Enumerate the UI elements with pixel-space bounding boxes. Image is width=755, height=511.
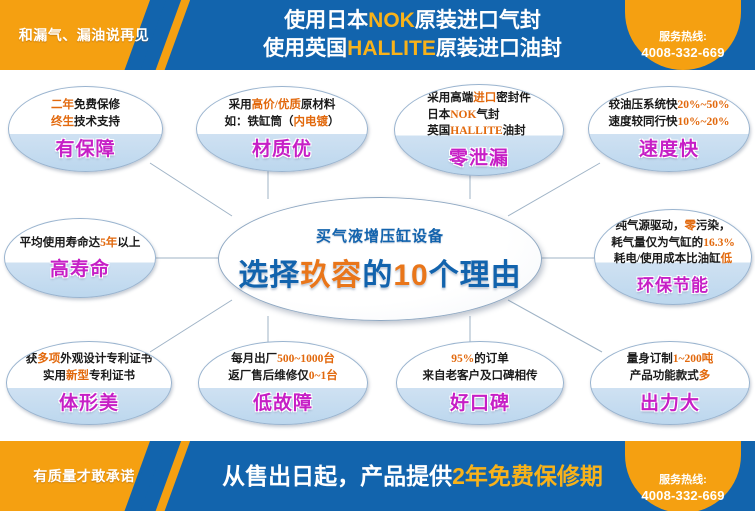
bubble-eco-saving-line: 耗气量仅为气缸的16.3% bbox=[611, 235, 735, 252]
bubble-eco-saving-body: 纯气源驱动，零污染，耗气量仅为气缸的16.3%耗电/使用成本比油缸低 bbox=[605, 218, 741, 268]
bubble-good-reputation[interactable]: 95%的订单来自老客户及口碑相传 好口碑 bbox=[396, 341, 564, 425]
bubble-high-output-line: 量身订制1~200吨 bbox=[627, 351, 713, 368]
bubble-high-output-text: 产品功能款式 bbox=[630, 370, 699, 382]
bubble-guarantee[interactable]: 二年免费保修终生技术支持 有保障 bbox=[8, 86, 163, 172]
bubble-zero-leak-text: 英国 bbox=[427, 125, 450, 137]
bubble-low-failure[interactable]: 每月出厂500~1000台返厂售后维修仅0~1台 低故障 bbox=[198, 341, 368, 425]
center-main-4: 10 bbox=[393, 259, 428, 292]
top-line2-pre: 使用英国 bbox=[263, 37, 347, 60]
bubble-beautiful-shape-line: 获多项外观设计专利证书 bbox=[26, 351, 153, 368]
center-main-3: 的 bbox=[362, 259, 393, 292]
bubble-good-reputation-text: 95% bbox=[451, 353, 474, 365]
connector-guarantee bbox=[150, 163, 232, 216]
bubble-beautiful-shape-text: 实用 bbox=[43, 370, 66, 382]
bubble-low-failure-text: 0~1台 bbox=[309, 370, 338, 382]
bubble-beautiful-shape-text: 专利证书 bbox=[89, 370, 135, 382]
bubble-good-reputation-body: 95%的订单来自老客户及口碑相传 bbox=[417, 351, 544, 384]
bubble-eco-saving-text: 耗气量仅为气缸的 bbox=[611, 237, 703, 249]
bottom-hotline-badge[interactable]: 服务热线: 4008-332-669 bbox=[625, 441, 741, 511]
bubble-eco-saving-text: 16.3% bbox=[703, 237, 735, 249]
top-line2-post: 原装进口油封 bbox=[436, 37, 562, 60]
bubble-good-reputation-text: 的订单 bbox=[474, 353, 509, 365]
connector-high-output bbox=[508, 300, 602, 352]
bubble-material-body: 采用高价/优质原材料如：铁缸筒（内电镀） bbox=[219, 97, 346, 130]
bubble-long-life-line: 平均使用寿命达5年以上 bbox=[20, 235, 141, 252]
bubble-good-reputation-line: 95%的订单 bbox=[423, 351, 538, 368]
bubble-long-life[interactable]: 平均使用寿命达5年以上 高寿命 bbox=[4, 218, 156, 298]
bubble-low-failure-title: 低故障 bbox=[253, 388, 313, 415]
bubble-good-reputation-line: 来自老客户及口碑相传 bbox=[423, 368, 538, 385]
bubble-fast-speed-line: 速度较同行快10%~20% bbox=[609, 114, 730, 131]
bubble-material-text: 采用 bbox=[229, 99, 252, 111]
top-hotline-label: 服务热线: bbox=[659, 30, 707, 45]
connector-beautiful-shape bbox=[150, 300, 232, 352]
bubble-zero-leak-line: 采用高端进口密封件 bbox=[427, 90, 531, 107]
top-banner-slogan: 和漏气、漏油说再见 bbox=[14, 0, 154, 70]
bottom-banner-line-1: 从售出日起，产品提供2年免费保修期 bbox=[222, 461, 603, 491]
bubble-low-failure-text: 每月出厂 bbox=[231, 353, 277, 365]
center-ellipse[interactable]: 买气液增压缸设备 选择玖容的10个理由 bbox=[218, 197, 542, 321]
bubble-high-output-title: 出力大 bbox=[640, 388, 700, 415]
top-line1-post: 原装进口气封 bbox=[415, 9, 541, 32]
center-main-title: 选择玖容的10个理由 bbox=[238, 250, 521, 294]
bubble-low-failure-line: 每月出厂500~1000台 bbox=[228, 351, 337, 368]
bubble-beautiful-shape-body: 获多项外观设计专利证书实用新型专利证书 bbox=[20, 351, 159, 384]
bubble-zero-leak-text: 日本 bbox=[427, 109, 450, 121]
bubble-beautiful-shape-title: 体形美 bbox=[59, 388, 119, 415]
bubble-zero-leak-title: 零泄漏 bbox=[449, 143, 509, 170]
bubble-beautiful-shape-text: 获 bbox=[26, 353, 38, 365]
bubble-high-output-body: 量身订制1~200吨产品功能款式多 bbox=[621, 351, 719, 384]
bubble-good-reputation-text: 来自老客户及口碑相传 bbox=[423, 370, 538, 382]
bubble-long-life-text: 以上 bbox=[117, 237, 140, 249]
bottom-banner: 有质量才敢承诺 从售出日起，产品提供2年免费保修期 服务热线: 4008-332… bbox=[0, 441, 755, 511]
bottom-banner-slogan: 有质量才敢承诺 bbox=[14, 441, 154, 511]
center-main-5: 个理由 bbox=[429, 259, 522, 292]
bubble-fast-speed[interactable]: 较油压系统快20%~50%速度较同行快10%~20% 速度快 bbox=[588, 86, 750, 172]
bubble-fast-speed-title: 速度快 bbox=[639, 134, 699, 161]
bubble-material-text: 原材料 bbox=[301, 99, 336, 111]
bubble-guarantee-text: 技术支持 bbox=[74, 116, 120, 128]
top-hotline-number: 4008-332-669 bbox=[641, 44, 724, 62]
bubble-fast-speed-text: 较油压系统快 bbox=[609, 99, 678, 111]
bottom-line-pre: 从售出日起，产品提供 bbox=[222, 463, 452, 489]
top-hotline-badge[interactable]: 服务热线: 4008-332-669 bbox=[625, 0, 741, 70]
bubble-material-line: 采用高价/优质原材料 bbox=[225, 97, 340, 114]
center-subtitle: 买气液增压缸设备 bbox=[316, 225, 444, 246]
bubble-fast-speed-text: 20%~50% bbox=[678, 99, 730, 111]
bubble-low-failure-body: 每月出厂500~1000台返厂售后维修仅0~1台 bbox=[222, 351, 343, 384]
bubble-guarantee-line: 二年免费保修 bbox=[51, 97, 120, 114]
bubble-guarantee-text: 终生 bbox=[51, 116, 74, 128]
top-banner-line-1: 使用日本NOK原装进口气封 bbox=[284, 7, 541, 35]
bubble-material-title: 材质优 bbox=[252, 134, 312, 161]
bottom-hotline-number: 4008-332-669 bbox=[641, 487, 724, 505]
bubble-beautiful-shape-line: 实用新型专利证书 bbox=[26, 368, 153, 385]
bubble-eco-saving-text: 污染， bbox=[696, 220, 731, 232]
bubble-guarantee-body: 二年免费保修终生技术支持 bbox=[45, 97, 126, 130]
bubble-zero-leak-line: 英国HALLITE油封 bbox=[427, 123, 531, 140]
bubble-high-output[interactable]: 量身订制1~200吨产品功能款式多 出力大 bbox=[590, 341, 750, 425]
bubble-guarantee-title: 有保障 bbox=[55, 134, 115, 161]
bubble-high-output-text: 量身订制 bbox=[627, 353, 673, 365]
bubble-high-output-text: 1~200吨 bbox=[673, 353, 713, 365]
bubble-good-reputation-title: 好口碑 bbox=[450, 388, 510, 415]
bubble-long-life-text: 5年 bbox=[100, 237, 117, 249]
bubble-zero-leak-body: 采用高端进口密封件日本NOK气封英国HALLITE油封 bbox=[421, 90, 537, 140]
center-main-1: 选择 bbox=[238, 259, 300, 292]
bubble-eco-saving-text: 零 bbox=[685, 220, 697, 232]
top-line2-brand: HALLITE bbox=[347, 37, 436, 60]
bubble-beautiful-shape[interactable]: 获多项外观设计专利证书实用新型专利证书 体形美 bbox=[6, 341, 172, 425]
bubble-beautiful-shape-text: 多项 bbox=[37, 353, 60, 365]
bubble-fast-speed-text: 速度较同行快 bbox=[609, 116, 678, 128]
bubble-fast-speed-line: 较油压系统快20%~50% bbox=[609, 97, 730, 114]
top-banner: 和漏气、漏油说再见 使用日本NOK原装进口气封 使用英国HALLITE原装进口油… bbox=[0, 0, 755, 70]
bubble-guarantee-text: 二年 bbox=[51, 99, 74, 111]
bubble-eco-saving-text: 低 bbox=[721, 253, 733, 265]
bubble-beautiful-shape-text: 新型 bbox=[66, 370, 89, 382]
bubble-zero-leak-text: 密封件 bbox=[496, 92, 531, 104]
bubble-zero-leak-text: 油封 bbox=[503, 125, 526, 137]
bubble-material-text: 内电镀 bbox=[294, 116, 329, 128]
bubble-long-life-title: 高寿命 bbox=[50, 254, 110, 281]
top-line1-brand: NOK bbox=[368, 9, 415, 32]
bubble-zero-leak-text: 采用高端 bbox=[427, 92, 473, 104]
bubble-high-output-text: 多 bbox=[699, 370, 711, 382]
top-line1-pre: 使用日本 bbox=[284, 9, 368, 32]
bubble-beautiful-shape-text: 外观设计专利证书 bbox=[60, 353, 152, 365]
bubble-fast-speed-body: 较油压系统快20%~50%速度较同行快10%~20% bbox=[603, 97, 736, 130]
bubble-long-life-text: 平均使用寿命达 bbox=[20, 237, 101, 249]
bottom-line-highlight: 2年免费保修期 bbox=[452, 463, 603, 489]
bubble-eco-saving-title: 环保节能 bbox=[637, 271, 709, 296]
bubble-eco-saving-line: 耗电/使用成本比油缸低 bbox=[611, 251, 735, 268]
bubble-material-text: 如：铁缸筒（ bbox=[225, 116, 294, 128]
bubble-eco-saving-text: 耗电/使用成本比油缸 bbox=[614, 253, 721, 265]
bubble-material[interactable]: 采用高价/优质原材料如：铁缸筒（内电镀） 材质优 bbox=[196, 86, 368, 172]
bubble-zero-leak-text: NOK bbox=[450, 109, 476, 121]
bubble-eco-saving[interactable]: 纯气源驱动，零污染，耗气量仅为气缸的16.3%耗电/使用成本比油缸低 环保节能 bbox=[594, 209, 752, 305]
top-banner-headline: 使用日本NOK原装进口气封 使用英国HALLITE原装进口油封 bbox=[185, 0, 640, 70]
bubble-zero-leak-line: 日本NOK气封 bbox=[427, 107, 531, 124]
bubble-guarantee-text: 免费保修 bbox=[74, 99, 120, 111]
bubble-eco-saving-text: 纯气源驱动， bbox=[616, 220, 685, 232]
bubble-low-failure-line: 返厂售后维修仅0~1台 bbox=[228, 368, 337, 385]
bubble-low-failure-text: 返厂售后维修仅 bbox=[228, 370, 309, 382]
infographic-root: 和漏气、漏油说再见 使用日本NOK原装进口气封 使用英国HALLITE原装进口油… bbox=[0, 0, 755, 511]
connector-fast-speed bbox=[508, 163, 600, 216]
bottom-hotline-label: 服务热线: bbox=[659, 473, 707, 488]
bubble-zero-leak-text: HALLITE bbox=[450, 125, 502, 137]
bubble-material-text: ） bbox=[328, 116, 340, 128]
bubble-zero-leak-text: 进口 bbox=[473, 92, 496, 104]
bottom-banner-headline: 从售出日起，产品提供2年免费保修期 bbox=[185, 441, 640, 511]
bubble-guarantee-line: 终生技术支持 bbox=[51, 114, 120, 131]
bubble-material-text: 高价/优质 bbox=[252, 99, 301, 111]
center-main-2: 玖容 bbox=[300, 259, 362, 292]
bubble-fast-speed-text: 10%~20% bbox=[678, 116, 730, 128]
bubble-zero-leak[interactable]: 采用高端进口密封件日本NOK气封英国HALLITE油封 零泄漏 bbox=[394, 84, 564, 176]
bubble-low-failure-text: 500~1000台 bbox=[277, 353, 335, 365]
top-banner-line-2: 使用英国HALLITE原装进口油封 bbox=[263, 35, 562, 63]
bubble-material-line: 如：铁缸筒（内电镀） bbox=[225, 114, 340, 131]
bubble-eco-saving-line: 纯气源驱动，零污染， bbox=[611, 218, 735, 235]
bubble-zero-leak-text: 气封 bbox=[476, 109, 499, 121]
bubble-long-life-body: 平均使用寿命达5年以上 bbox=[14, 235, 147, 252]
bubble-high-output-line: 产品功能款式多 bbox=[627, 368, 713, 385]
